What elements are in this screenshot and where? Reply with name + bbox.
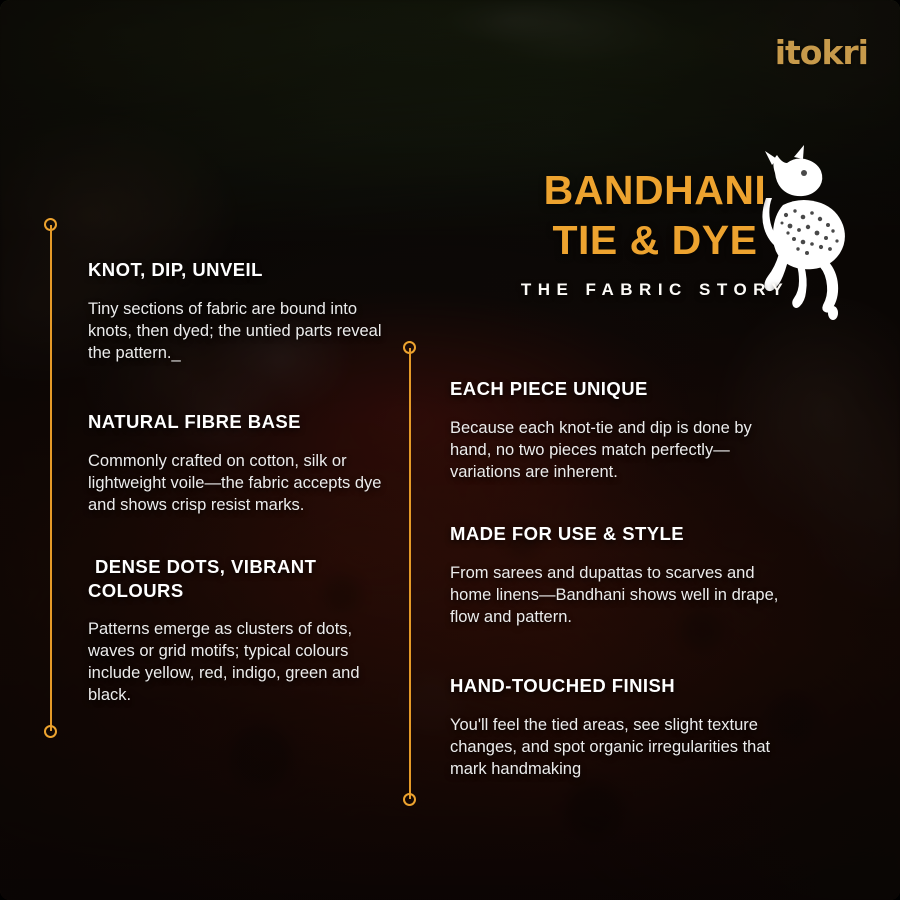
feature-heading: KNOT, DIP, UNVEIL — [88, 258, 388, 282]
feature-block-natural-fibre-base: NATURAL FIBRE BASE Commonly crafted on c… — [88, 410, 388, 516]
title-line-2: TIE & DYE — [455, 215, 855, 265]
feature-heading: EACH PIECE UNIQUE — [450, 377, 790, 401]
feature-block-each-piece-unique: EACH PIECE UNIQUE Because each knot-tie … — [450, 377, 790, 483]
timeline-line — [50, 225, 52, 731]
infographic-canvas: itokri — [0, 0, 900, 900]
hero-subtitle: THE FABRIC STORY — [455, 280, 855, 300]
feature-heading: MADE FOR USE & STYLE — [450, 522, 790, 546]
feature-block-knot-dip-unveil: KNOT, DIP, UNVEIL Tiny sections of fabri… — [88, 258, 388, 364]
feature-body: Because each knot-tie and dip is done by… — [450, 418, 790, 484]
feature-body: Tiny sections of fabric are bound into k… — [88, 299, 388, 365]
feature-heading: DENSE DOTS, VIBRANT COLOURS — [88, 555, 388, 602]
timeline-rail-middle — [403, 341, 417, 806]
feature-body: Patterns emerge as clusters of dots, wav… — [88, 619, 388, 707]
timeline-rail-left — [44, 218, 58, 738]
itokri-logo[interactable]: itokri — [775, 36, 868, 69]
feature-block-dense-dots-vibrant-colours: DENSE DOTS, VIBRANT COLOURS Patterns eme… — [88, 555, 388, 707]
feature-heading: NATURAL FIBRE BASE — [88, 410, 388, 434]
timeline-node-bottom — [44, 725, 57, 738]
timeline-node-bottom — [403, 793, 416, 806]
feature-block-hand-touched-finish: HAND-TOUCHED FINISH You'll feel the tied… — [450, 674, 790, 780]
feature-body: Commonly crafted on cotton, silk or ligh… — [88, 451, 388, 517]
feature-body: You'll feel the tied areas, see slight t… — [450, 715, 790, 781]
title-line-1: BANDHANI — [455, 165, 855, 215]
feature-heading: HAND-TOUCHED FINISH — [450, 674, 790, 698]
hero-title-block: BANDHANI TIE & DYE THE FABRIC STORY — [455, 165, 855, 300]
feature-body: From sarees and dupattas to scarves and … — [450, 563, 790, 629]
feature-block-made-for-use-and-style: MADE FOR USE & STYLE From sarees and dup… — [450, 522, 790, 628]
timeline-line — [409, 348, 411, 799]
